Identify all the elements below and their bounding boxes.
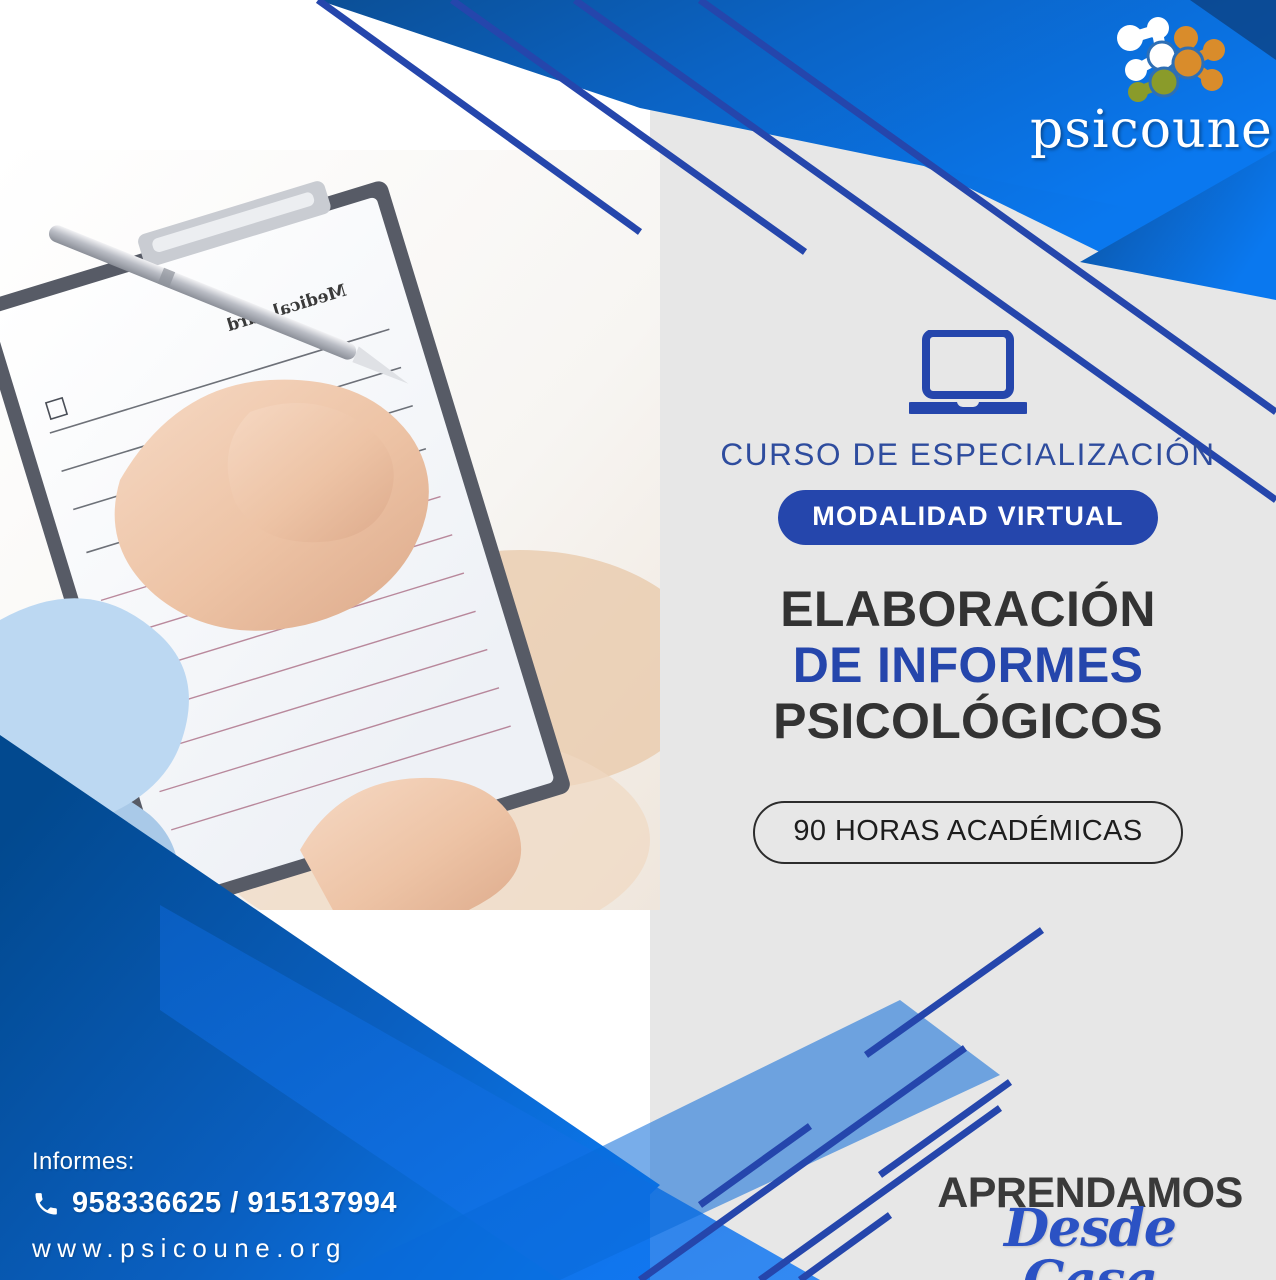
brand-logo[interactable]: psicoune (1030, 8, 1260, 168)
modality-badge: MODALIDAD VIRTUAL (778, 490, 1158, 545)
poster-canvas: Medical card (0, 0, 1276, 1280)
contact-block: Informes: 958336625 / 915137994 www.psic… (32, 1148, 397, 1264)
logo-wordmark: psicoune (1030, 104, 1260, 156)
phone-icon (32, 1190, 60, 1218)
contact-label: Informes: (32, 1148, 397, 1176)
course-title-line-1: ELABORACIÓN (773, 581, 1163, 637)
course-title-line-2: DE INFORMES (773, 637, 1163, 693)
molecule-icon (1102, 8, 1234, 108)
course-title: ELABORACIÓN DE INFORMES PSICOLÓGICOS (773, 581, 1163, 749)
slogan-block: APRENDAMOS Desde Casa (930, 1172, 1250, 1280)
laptop-icon (909, 330, 1027, 414)
contact-phone-numbers: 958336625 / 915137994 (72, 1187, 397, 1220)
hero-content: CURSO DE ESPECIALIZACIÓN MODALIDAD VIRTU… (660, 330, 1276, 864)
course-kicker: CURSO DE ESPECIALIZACIÓN (720, 436, 1215, 473)
contact-phone-row[interactable]: 958336625 / 915137994 (32, 1187, 397, 1220)
course-title-line-3: PSICOLÓGICOS (773, 693, 1163, 749)
hours-badge: 90 HORAS ACADÉMICAS (753, 801, 1182, 864)
contact-website[interactable]: www.psicoune.org (32, 1233, 397, 1264)
